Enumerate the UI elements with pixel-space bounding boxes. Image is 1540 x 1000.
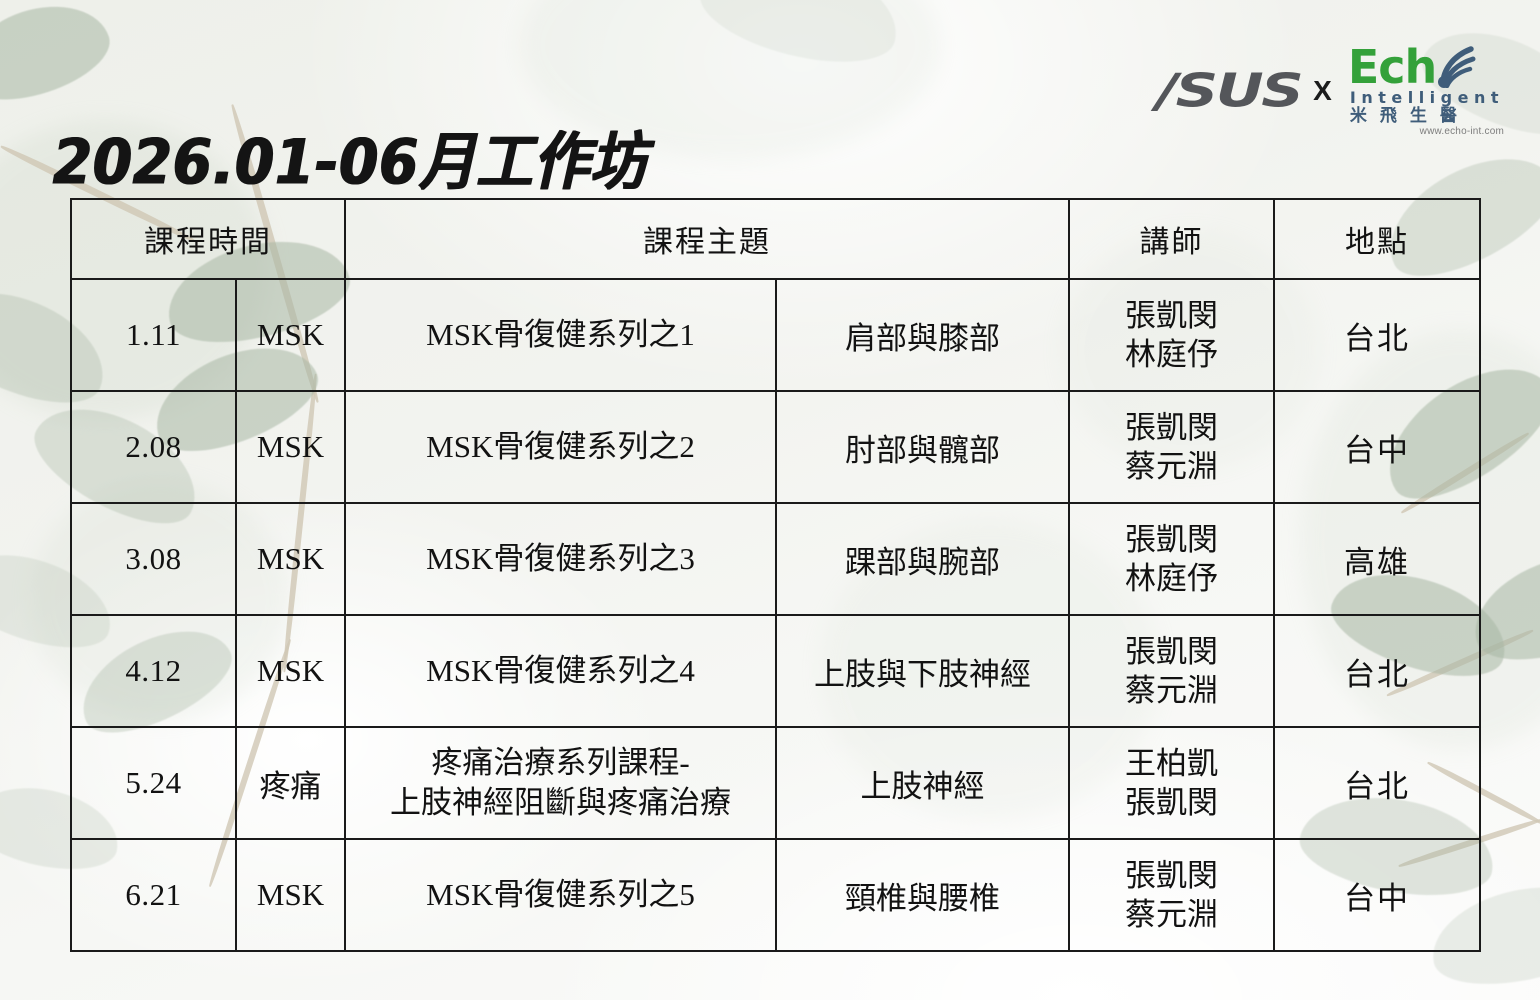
asus-logo: /SUS xyxy=(1157,68,1309,114)
cell-instructor-line2: 張凱閔 xyxy=(1074,783,1269,822)
cell-subject: MSK骨復健系列之1 xyxy=(345,279,776,391)
echo-website-url: www.echo-int.com xyxy=(1348,127,1504,137)
echo-wordmark-row: Ech xyxy=(1348,44,1504,88)
table-header-row: 課程時間 課程主題 講師 地點 xyxy=(71,199,1480,279)
leaf xyxy=(0,0,119,115)
wifi-signal-icon xyxy=(1437,44,1491,88)
header-instructor: 講師 xyxy=(1069,199,1274,279)
table-row: 6.21 MSK MSK骨復健系列之5 頸椎與腰椎 張凱閔 蔡元淵 台中 xyxy=(71,839,1480,951)
cell-location: 台中 xyxy=(1274,391,1480,503)
cell-instructor: 張凱閔 蔡元淵 xyxy=(1069,839,1274,951)
cell-subject: 疼痛治療系列課程- 上肢神經阻斷與疼痛治療 xyxy=(345,727,776,839)
echo-wordmark: Ech xyxy=(1348,46,1436,88)
cell-subject: MSK骨復健系列之2 xyxy=(345,391,776,503)
cell-date: 6.21 xyxy=(71,839,236,951)
table-row: 3.08 MSK MSK骨復健系列之3 踝部與腕部 張凱閔 林庭伃 高雄 xyxy=(71,503,1480,615)
cell-body-part: 踝部與腕部 xyxy=(776,503,1069,615)
cell-instructor-line2: 林庭伃 xyxy=(1074,335,1269,374)
cell-instructor: 張凱閔 林庭伃 xyxy=(1069,279,1274,391)
logo-lockup: /SUS X Ech Intelligent 米飛生醫 xyxy=(1168,44,1504,137)
cell-instructor-line1: 張凱閔 xyxy=(1074,520,1269,559)
header-course-time: 課程時間 xyxy=(71,199,345,279)
echo-chinese-name: 米飛生醫 xyxy=(1348,108,1504,125)
cell-location: 台中 xyxy=(1274,839,1480,951)
cell-subject-line1: 疼痛治療系列課程- xyxy=(350,743,771,783)
cell-instructor-line1: 王柏凱 xyxy=(1074,744,1269,783)
cell-body-part: 上肢與下肢神經 xyxy=(776,615,1069,727)
cell-instructor-line2: 蔡元淵 xyxy=(1074,671,1269,710)
cell-subject-line1: MSK骨復健系列之5 xyxy=(350,875,771,915)
echo-tagline: Intelligent xyxy=(1348,90,1504,106)
table-row: 5.24 疼痛 疼痛治療系列課程- 上肢神經阻斷與疼痛治療 上肢神經 王柏凱 張… xyxy=(71,727,1480,839)
page-title: 2026.01-06月工作坊 xyxy=(52,112,646,203)
cell-category: MSK xyxy=(236,503,345,615)
table-row: 2.08 MSK MSK骨復健系列之2 肘部與髖部 張凱閔 蔡元淵 台中 xyxy=(71,391,1480,503)
table-row: 4.12 MSK MSK骨復健系列之4 上肢與下肢神經 張凱閔 蔡元淵 台北 xyxy=(71,615,1480,727)
cell-instructor-line2: 蔡元淵 xyxy=(1074,447,1269,486)
leaf xyxy=(691,0,908,79)
cell-subject: MSK骨復健系列之4 xyxy=(345,615,776,727)
table-body: 1.11 MSK MSK骨復健系列之1 肩部與膝部 張凱閔 林庭伃 台北 2.0… xyxy=(71,279,1480,951)
logo-separator-x: X xyxy=(1313,77,1332,105)
cell-category: MSK xyxy=(236,839,345,951)
cell-subject-line1: MSK骨復健系列之1 xyxy=(350,315,771,355)
cell-instructor: 張凱閔 林庭伃 xyxy=(1069,503,1274,615)
echo-intelligent-logo: Ech Intelligent 米飛生醫 www.echo-int.com xyxy=(1348,44,1504,137)
table-row: 1.11 MSK MSK骨復健系列之1 肩部與膝部 張凱閔 林庭伃 台北 xyxy=(71,279,1480,391)
cell-subject-line1: MSK骨復健系列之3 xyxy=(350,539,771,579)
cell-location: 台北 xyxy=(1274,615,1480,727)
cell-instructor-line1: 張凱閔 xyxy=(1074,632,1269,671)
poster-canvas: 2026.01-06月工作坊 /SUS X Ech In xyxy=(0,0,1540,1000)
cell-instructor: 張凱閔 蔡元淵 xyxy=(1069,615,1274,727)
cell-body-part: 肩部與膝部 xyxy=(776,279,1069,391)
cell-subject-line1: MSK骨復健系列之2 xyxy=(350,427,771,467)
cell-category: MSK xyxy=(236,279,345,391)
cell-body-part: 肘部與髖部 xyxy=(776,391,1069,503)
cell-body-part: 頸椎與腰椎 xyxy=(776,839,1069,951)
cell-category: 疼痛 xyxy=(236,727,345,839)
cell-instructor-line2: 林庭伃 xyxy=(1074,559,1269,598)
cell-location: 高雄 xyxy=(1274,503,1480,615)
cell-date: 4.12 xyxy=(71,615,236,727)
cell-date: 1.11 xyxy=(71,279,236,391)
cell-instructor-line1: 張凱閔 xyxy=(1074,296,1269,335)
header-course-topic: 課程主題 xyxy=(345,199,1069,279)
cell-date: 5.24 xyxy=(71,727,236,839)
cell-subject: MSK骨復健系列之3 xyxy=(345,503,776,615)
cell-location: 台北 xyxy=(1274,727,1480,839)
cell-instructor-line1: 張凱閔 xyxy=(1074,408,1269,447)
header-location: 地點 xyxy=(1274,199,1480,279)
cell-instructor: 張凱閔 蔡元淵 xyxy=(1069,391,1274,503)
cell-subject: MSK骨復健系列之5 xyxy=(345,839,776,951)
cell-instructor-line2: 蔡元淵 xyxy=(1074,895,1269,934)
cell-body-part: 上肢神經 xyxy=(776,727,1069,839)
cell-subject-line2: 上肢神經阻斷與疼痛治療 xyxy=(350,783,771,823)
cell-date: 3.08 xyxy=(71,503,236,615)
cell-instructor: 王柏凱 張凱閔 xyxy=(1069,727,1274,839)
cell-instructor-line1: 張凱閔 xyxy=(1074,856,1269,895)
workshop-schedule-table: 課程時間 課程主題 講師 地點 1.11 MSK MSK骨復健系列之1 肩部與膝… xyxy=(70,198,1481,952)
cell-date: 2.08 xyxy=(71,391,236,503)
cell-location: 台北 xyxy=(1274,279,1480,391)
cell-category: MSK xyxy=(236,391,345,503)
cell-category: MSK xyxy=(236,615,345,727)
cell-subject-line1: MSK骨復健系列之4 xyxy=(350,651,771,691)
